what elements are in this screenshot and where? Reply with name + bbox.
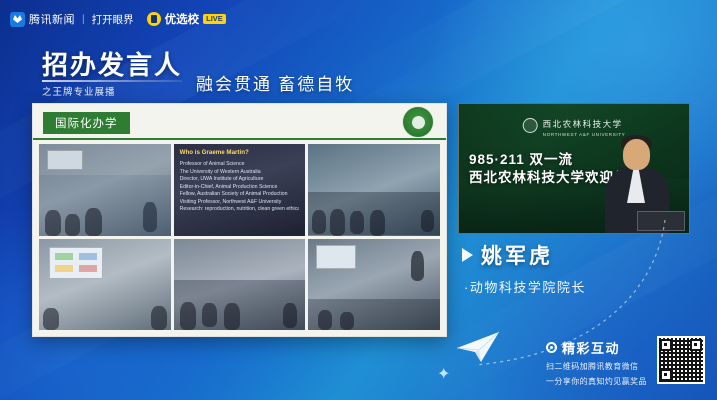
projector-screen-photo bbox=[39, 239, 171, 331]
page-title: 招办发言人 bbox=[42, 52, 182, 79]
tencent-news-logo[interactable]: 腾讯新闻 bbox=[10, 11, 75, 27]
title-underline bbox=[42, 80, 182, 82]
livestream-stage: 腾讯新闻 | 打开眼界 优选校 LIVE 招办发言人 之王牌专业展播 融会贯通 … bbox=[0, 0, 717, 400]
university-name-cn: 西北农林科技大学 bbox=[543, 119, 623, 129]
program-title-block: 招办发言人 之王牌专业展播 融会贯通 畜德自牧 bbox=[42, 52, 354, 98]
live-badge: LIVE bbox=[203, 14, 226, 24]
slide-header: 国际化办学 bbox=[33, 104, 446, 140]
program-subtitle: 之王牌专业展播 bbox=[42, 84, 182, 98]
program-slogan: 融会贯通 畜德自牧 bbox=[196, 70, 354, 98]
paper-plane-icon bbox=[455, 330, 501, 364]
qr-code-icon[interactable] bbox=[657, 336, 705, 384]
partner-name: 优选校 bbox=[165, 11, 200, 27]
video-banner-line1: 985·211 双一流 bbox=[469, 148, 573, 168]
classroom-lecture-photo bbox=[39, 144, 171, 236]
lecture-hall-photo bbox=[308, 239, 440, 331]
slide-photo-title: Who is Graeme Martin? bbox=[180, 149, 300, 158]
interaction-title: 精彩互动 bbox=[562, 338, 620, 357]
program-title-group: 招办发言人 之王牌专业展播 bbox=[42, 52, 182, 98]
slide-photo-line: Visiting Professor, Northwest A&F Univer… bbox=[180, 199, 300, 207]
slide-photo-line: Editor-in-Chief, Animal Production Scien… bbox=[180, 184, 300, 192]
sparkle-star-icon: ✦ bbox=[437, 367, 453, 383]
slide-photo-line: Fellow, Australian Society of Animal Pro… bbox=[180, 191, 300, 199]
university-crest-icon bbox=[523, 118, 538, 133]
presentation-slide: 国际化办学 Who is Graeme Martin? Professor of… bbox=[32, 103, 447, 337]
slide-photo-line: The University of Western Australia bbox=[180, 169, 300, 177]
slide-photo-grid: Who is Graeme Martin? Professor of Anima… bbox=[33, 140, 446, 336]
dot-circle-icon bbox=[546, 342, 557, 353]
slide-photo-line: Professor of Animal Science bbox=[180, 161, 300, 169]
tencent-news-brand: 腾讯新闻 bbox=[29, 11, 75, 27]
youxuanxiao-icon bbox=[147, 12, 161, 26]
slide-photo-text: Who is Graeme Martin? Professor of Anima… bbox=[180, 149, 300, 214]
slide-photo-line: Director, UWA Institute of Agriculture bbox=[180, 176, 300, 184]
topbar-separator: | bbox=[82, 14, 85, 25]
channel-topbar: 腾讯新闻 | 打开眼界 优选校 LIVE bbox=[10, 10, 226, 28]
university-seal-icon bbox=[402, 106, 434, 138]
slide-photo-line: Research: reproduction, nutrition, clean… bbox=[180, 206, 300, 214]
slide-section-tag: 国际化办学 bbox=[43, 112, 130, 134]
interaction-line-1: 扫二维码加腾讯教育微信 bbox=[546, 361, 666, 372]
seminar-room-photo bbox=[308, 144, 440, 236]
topbar-tagline: 打开眼界 bbox=[92, 12, 134, 27]
interaction-block: 精彩互动 扫二维码加腾讯教育微信 一分享你的真知灼见赢奖品 bbox=[546, 338, 666, 387]
group-discussion-photo bbox=[174, 239, 306, 331]
interaction-line-2: 一分享你的真知灼见赢奖品 bbox=[546, 376, 666, 387]
presentation-slide-photo: Who is Graeme Martin? Professor of Anima… bbox=[174, 144, 306, 236]
tencent-news-icon bbox=[10, 12, 25, 27]
partner-logo[interactable]: 优选校 LIVE bbox=[147, 11, 226, 27]
